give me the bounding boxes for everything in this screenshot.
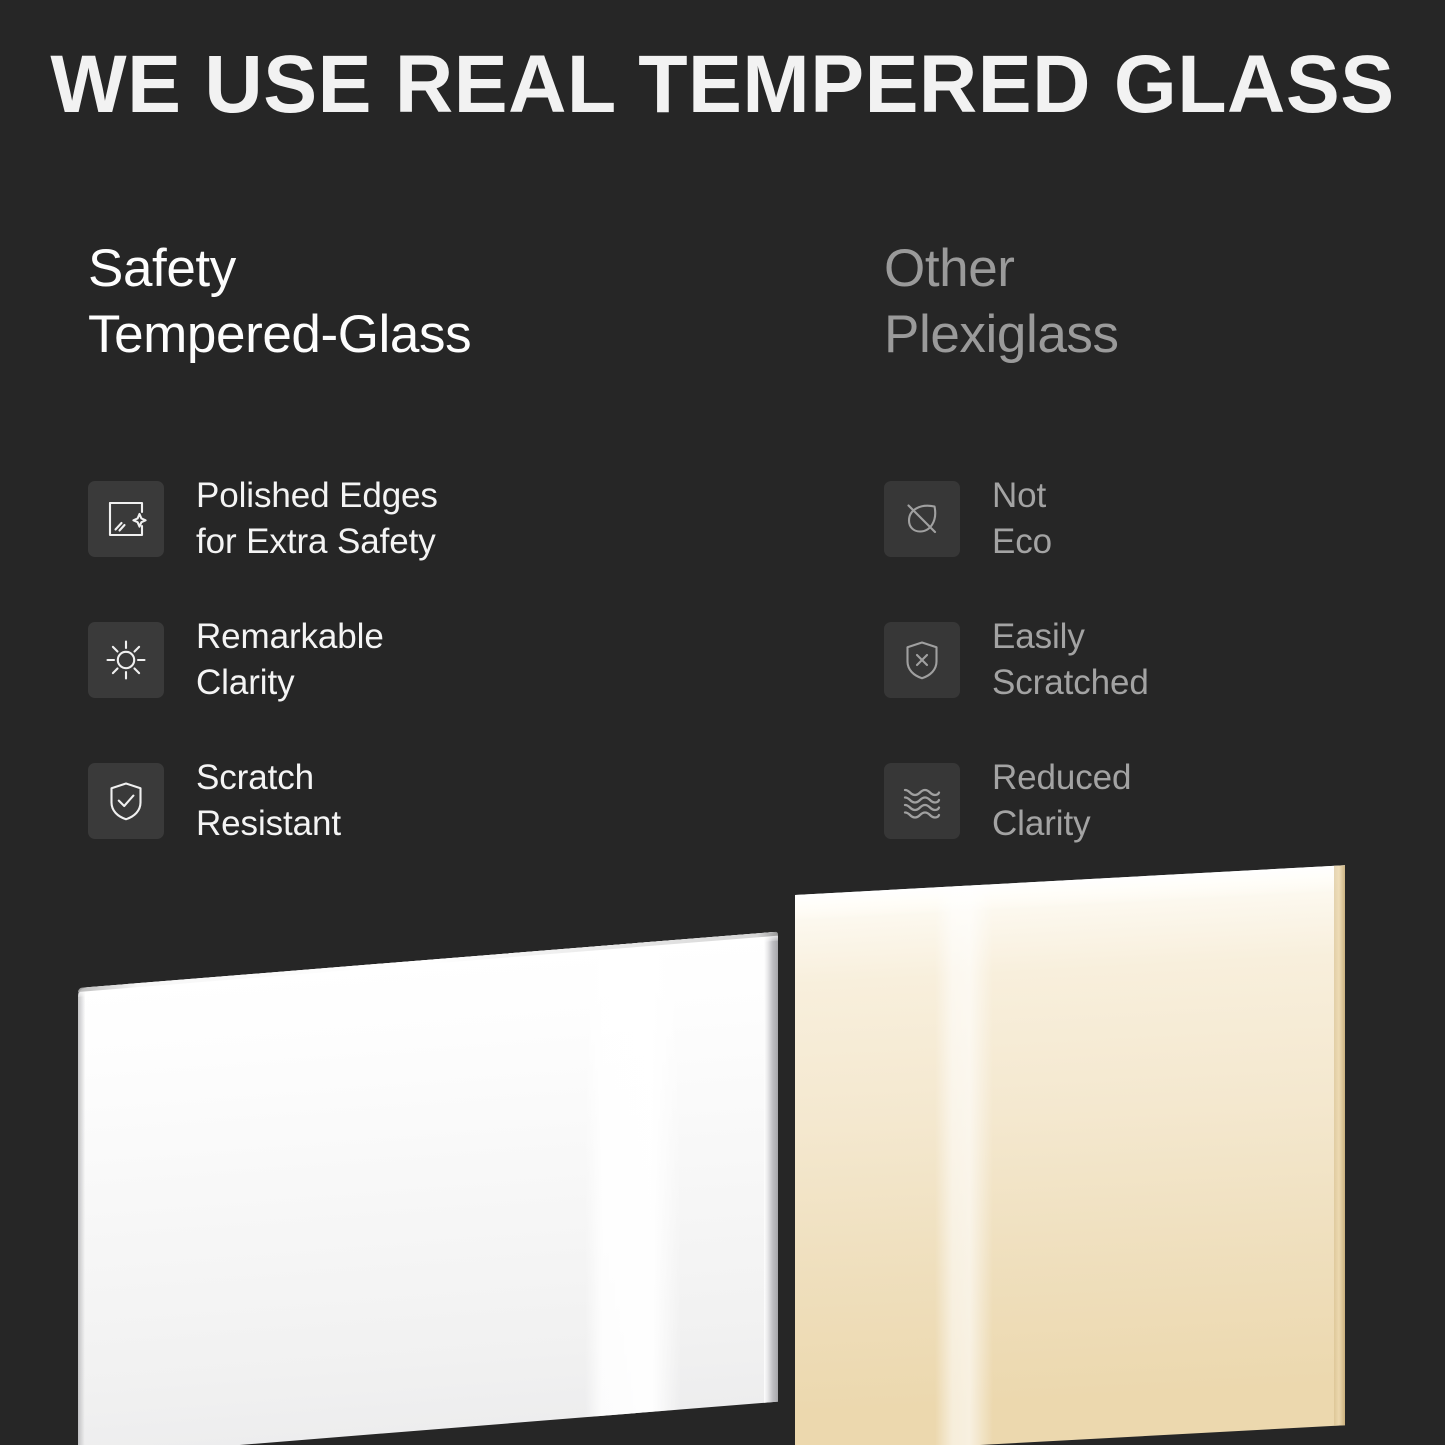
column-heading-plexiglass: Other Plexiglass	[884, 236, 1424, 369]
feature-label: Polished Edges for Extra Safety	[196, 473, 438, 564]
shield-check-icon	[88, 763, 164, 839]
tempered-glass-left-edge	[78, 987, 85, 1445]
page-title: WE USE REAL TEMPERED GLASS	[11, 42, 1434, 128]
shield-x-icon	[884, 622, 960, 698]
plexiglass-right-edge	[1334, 865, 1345, 1426]
feature-label: Easily Scratched	[992, 614, 1149, 705]
tempered-glass-reflection-seam	[585, 939, 681, 1417]
feature-label: Scratch Resistant	[196, 755, 341, 846]
tempered-glass-panel	[78, 932, 778, 1445]
wavy-lines-distortion-icon	[884, 763, 960, 839]
column-heading-tempered-glass: Safety Tempered-Glass	[88, 236, 828, 369]
feature-label: Not Eco	[992, 473, 1052, 564]
plexiglass-reflection-seam	[935, 884, 993, 1445]
feature-label: Remarkable Clarity	[196, 614, 384, 705]
product-photo-glass-panels	[0, 840, 1445, 1445]
comparison-column-tempered-glass: Safety Tempered-Glass Polished Edges for…	[88, 236, 828, 369]
polished-glass-pane-sparkle-icon	[88, 481, 164, 557]
infographic-page: WE USE REAL TEMPERED GLASS Safety Temper…	[0, 0, 1445, 1445]
feature-label: Reduced Clarity	[992, 755, 1131, 846]
comparison-column-plexiglass: Other Plexiglass Not Eco	[884, 236, 1424, 369]
tempered-glass-polished-right-edge	[764, 932, 778, 1403]
feature-row: Polished Edges for Extra Safety	[88, 448, 828, 589]
plexiglass-top-highlight	[795, 865, 1345, 921]
feature-row: Remarkable Clarity	[88, 589, 828, 730]
sun-brightness-icon	[88, 622, 164, 698]
feature-list-plexiglass: Not Eco Easily Scratched	[884, 448, 1424, 871]
leaf-crossed-out-icon	[884, 481, 960, 557]
feature-list-tempered-glass: Polished Edges for Extra Safety Remarkab…	[88, 448, 828, 871]
plexiglass-panel	[795, 865, 1345, 1445]
feature-row: Easily Scratched	[884, 589, 1424, 730]
feature-row: Not Eco	[884, 448, 1424, 589]
